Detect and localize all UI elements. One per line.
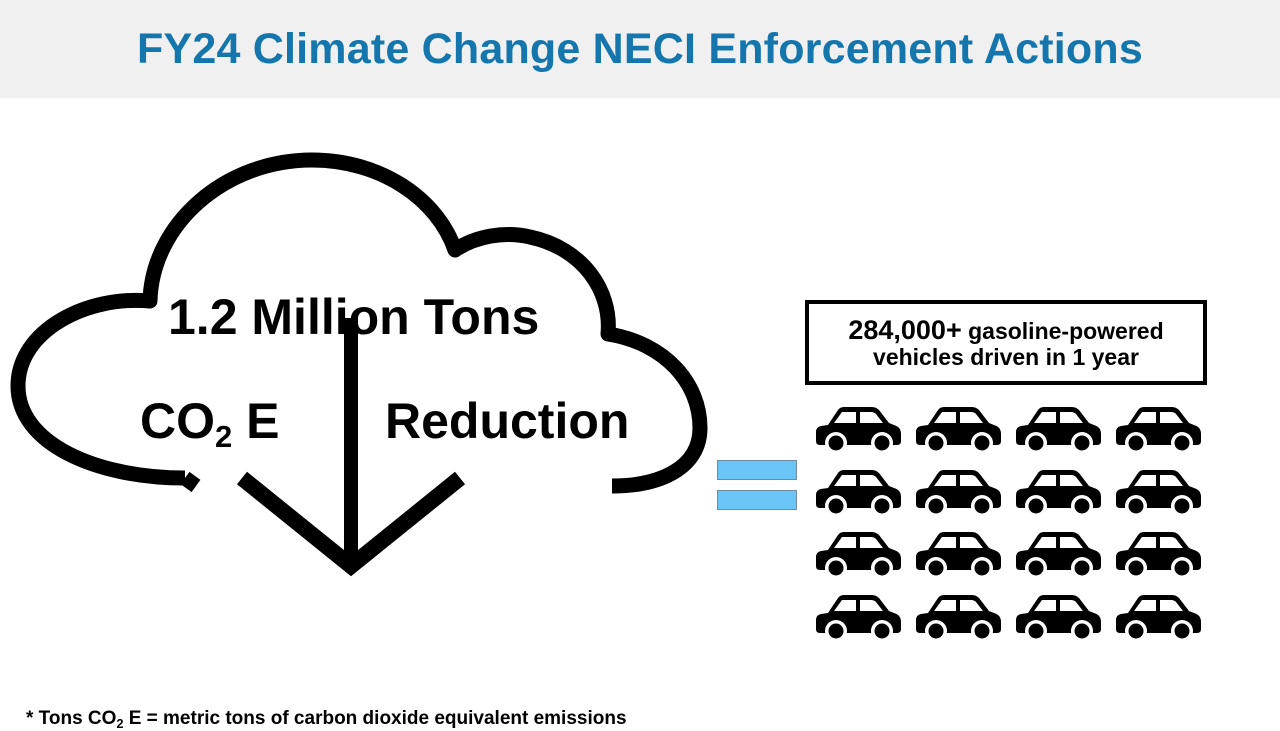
vehicle-count: 284,000+ [848,315,961,345]
cloud-headline: 1.2 Million Tons [168,292,539,342]
car-icon [912,401,1004,457]
car-icon [1012,464,1104,520]
car-icon [812,589,904,645]
car-icon [1112,526,1204,582]
footnote: * Tons CO2 E = metric tons of carbon dio… [26,708,627,730]
cloud-result-label: Reduction [385,396,629,446]
car-icon [912,526,1004,582]
vehicle-callout-line-1: 284,000+ gasoline-powered [848,315,1163,345]
footnote-subscript: 2 [116,717,123,731]
metric-label-text: CO [140,393,215,449]
metric-suffix: E [232,393,279,449]
car-icon [1012,401,1104,457]
car-icon [912,589,1004,645]
car-icon [812,526,904,582]
footnote-prefix: * Tons CO [26,708,116,729]
infographic-canvas: 1.2 Million Tons CO2 E Reduction 284,000… [0,98,1280,720]
car-icon [912,464,1004,520]
vehicle-unit: gasoline-powered [962,318,1164,344]
metric-subscript: 2 [215,419,232,454]
car-icon [1012,526,1104,582]
cloud-graphic-group: 1.2 Million Tons CO2 E Reduction [0,138,720,618]
cloud-outline-icon [0,138,720,618]
car-icon [812,401,904,457]
footnote-suffix: E = metric tons of carbon dioxide equiva… [123,708,626,729]
car-pictogram-grid [808,398,1208,648]
vehicle-callout-box: 284,000+ gasoline-powered vehicles drive… [805,300,1207,385]
header-band: FY24 Climate Change NECI Enforcement Act… [0,0,1280,98]
equals-bar-bottom [717,490,797,510]
equals-bar-top [717,460,797,480]
arrow-shaft [344,318,358,568]
car-icon [1112,401,1204,457]
cloud-metric-label: CO2 E [140,396,280,446]
equals-sign-icon [717,460,801,514]
car-icon [812,464,904,520]
car-icon [1112,464,1204,520]
vehicle-callout-line-2: vehicles driven in 1 year [873,345,1139,371]
page-title: FY24 Climate Change NECI Enforcement Act… [0,0,1280,98]
car-icon [1112,589,1204,645]
car-icon [1012,589,1104,645]
